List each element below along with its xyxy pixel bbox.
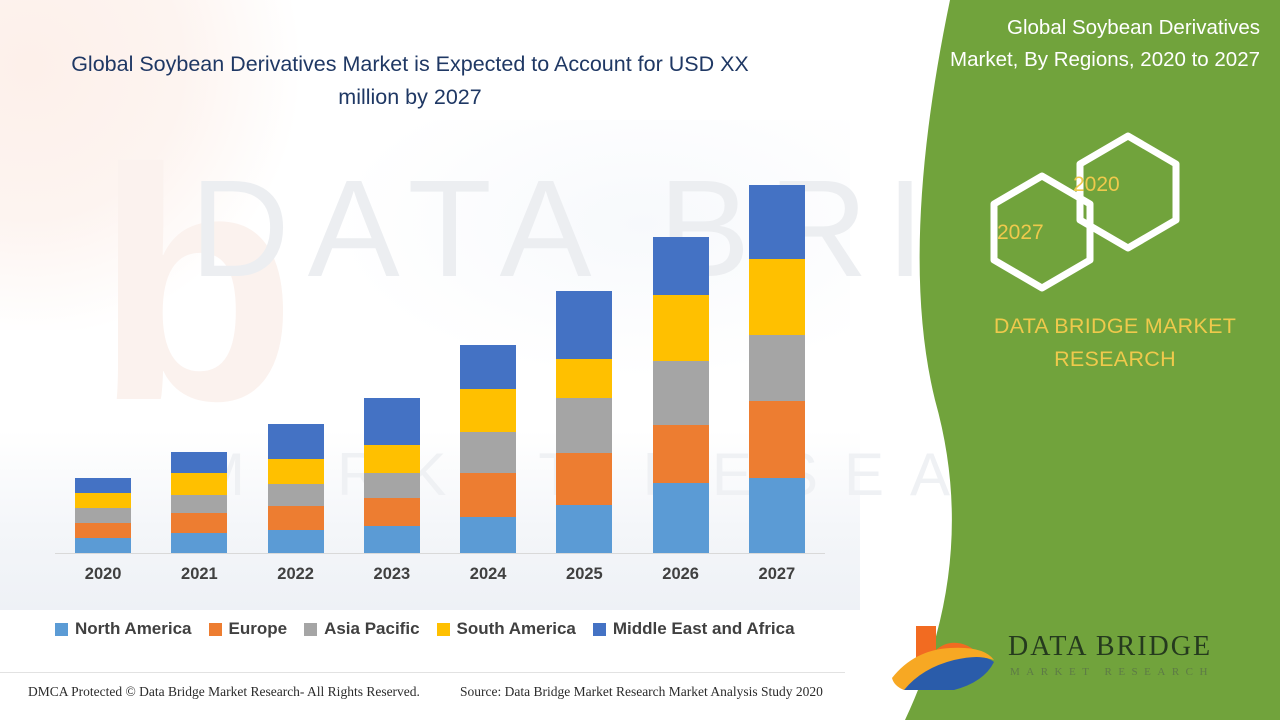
legend-item[interactable]: North America <box>55 619 192 639</box>
hexagon-label-end: 2027 <box>997 221 1044 245</box>
bar-segment <box>653 237 709 295</box>
right-green-panel: Global Soybean Derivatives Market, By Re… <box>830 0 1280 720</box>
hexagon-outlines-icon <box>980 128 1210 293</box>
bar-segment <box>171 452 227 473</box>
bar-segment <box>75 478 131 493</box>
legend-label: South America <box>457 619 576 639</box>
bar-segment <box>460 345 516 389</box>
bar-segment <box>556 398 612 453</box>
x-axis-label-2021: 2021 <box>154 565 244 584</box>
bar-segment <box>171 513 227 533</box>
bar-segment <box>460 432 516 473</box>
legend-label: Middle East and Africa <box>613 619 795 639</box>
legend-label: Europe <box>229 619 288 639</box>
bar-segment <box>268 506 324 530</box>
bar-segment <box>653 483 709 553</box>
bar-stack-2024 <box>460 345 516 553</box>
logo-mark-icon <box>888 620 998 692</box>
legend-label: North America <box>75 619 192 639</box>
bar-segment <box>364 526 420 553</box>
bar-segment <box>75 508 131 523</box>
bar-stack-2021 <box>171 452 227 553</box>
legend-swatch-icon <box>55 623 68 636</box>
bar-segment <box>268 530 324 553</box>
footer-copyright: DMCA Protected © Data Bridge Market Rese… <box>28 684 420 700</box>
footer-divider <box>0 672 845 673</box>
x-axis-label-2027: 2027 <box>732 565 822 584</box>
x-axis-label-2020: 2020 <box>58 565 148 584</box>
panel-brand-text: DATA BRIDGE MARKET RESEARCH <box>965 310 1265 376</box>
x-axis-label-2023: 2023 <box>347 565 437 584</box>
legend-swatch-icon <box>304 623 317 636</box>
bar-segment <box>268 424 324 459</box>
bar-segment <box>653 295 709 361</box>
x-axis-line <box>55 553 825 554</box>
x-axis-label-2026: 2026 <box>636 565 726 584</box>
legend-label: Asia Pacific <box>324 619 419 639</box>
bar-segment <box>749 335 805 401</box>
bar-segment <box>749 401 805 478</box>
bar-segment <box>268 459 324 484</box>
bar-stack-2025 <box>556 291 612 553</box>
bar-segment <box>364 445 420 473</box>
bar-segment <box>460 389 516 432</box>
bar-segment <box>75 523 131 538</box>
bar-segment <box>556 359 612 398</box>
bar-segment <box>556 453 612 505</box>
x-axis-label-2025: 2025 <box>539 565 629 584</box>
chart-legend: North AmericaEuropeAsia PacificSouth Ame… <box>55 615 845 643</box>
bar-segment <box>171 473 227 495</box>
bar-stack-2022 <box>268 424 324 553</box>
green-panel-content: Global Soybean Derivatives Market, By Re… <box>830 0 1280 720</box>
slide-canvas: b DATA BRIDGE MARKET RESEARCH Global Soy… <box>0 0 1280 720</box>
bar-segment <box>171 533 227 553</box>
hexagon-pair <box>980 128 1210 293</box>
bar-stack-2027 <box>749 185 805 553</box>
legend-item[interactable]: Middle East and Africa <box>593 619 795 639</box>
bar-segment <box>268 484 324 506</box>
bar-segment <box>653 425 709 483</box>
bar-segment <box>364 398 420 445</box>
bar-segment <box>556 291 612 359</box>
chart-plot-area <box>55 150 825 554</box>
bar-segment <box>364 498 420 526</box>
logo-name: DATA BRIDGE <box>1008 631 1212 663</box>
bar-stack-2020 <box>75 478 131 553</box>
bar-segment <box>460 517 516 553</box>
bar-stack-2023 <box>364 398 420 553</box>
logo-tagline: MARKET RESEARCH <box>1010 666 1214 678</box>
panel-title: Global Soybean Derivatives Market, By Re… <box>950 12 1260 76</box>
legend-item[interactable]: Europe <box>209 619 288 639</box>
legend-item[interactable]: South America <box>437 619 576 639</box>
bar-segment <box>749 259 805 335</box>
bar-segment <box>460 473 516 517</box>
bar-segment <box>75 493 131 508</box>
legend-swatch-icon <box>593 623 606 636</box>
hexagon-label-start: 2020 <box>1073 173 1120 197</box>
data-bridge-logo: DATA BRIDGE MARKET RESEARCH <box>888 620 1178 702</box>
bar-segment <box>653 361 709 425</box>
bar-segment <box>364 473 420 498</box>
x-axis-label-2024: 2024 <box>443 565 533 584</box>
legend-item[interactable]: Asia Pacific <box>304 619 419 639</box>
footer-source: Source: Data Bridge Market Research Mark… <box>460 684 823 700</box>
x-axis-labels: 20202021202220232024202520262027 <box>55 565 825 593</box>
bar-stack-2026 <box>653 237 709 553</box>
bar-segment <box>556 505 612 553</box>
bar-segment <box>75 538 131 553</box>
bar-segment <box>749 478 805 553</box>
bar-segment <box>171 495 227 513</box>
legend-swatch-icon <box>437 623 450 636</box>
chart-title: Global Soybean Derivatives Market is Exp… <box>60 48 760 114</box>
bar-segment <box>749 185 805 259</box>
legend-swatch-icon <box>209 623 222 636</box>
x-axis-label-2022: 2022 <box>251 565 341 584</box>
